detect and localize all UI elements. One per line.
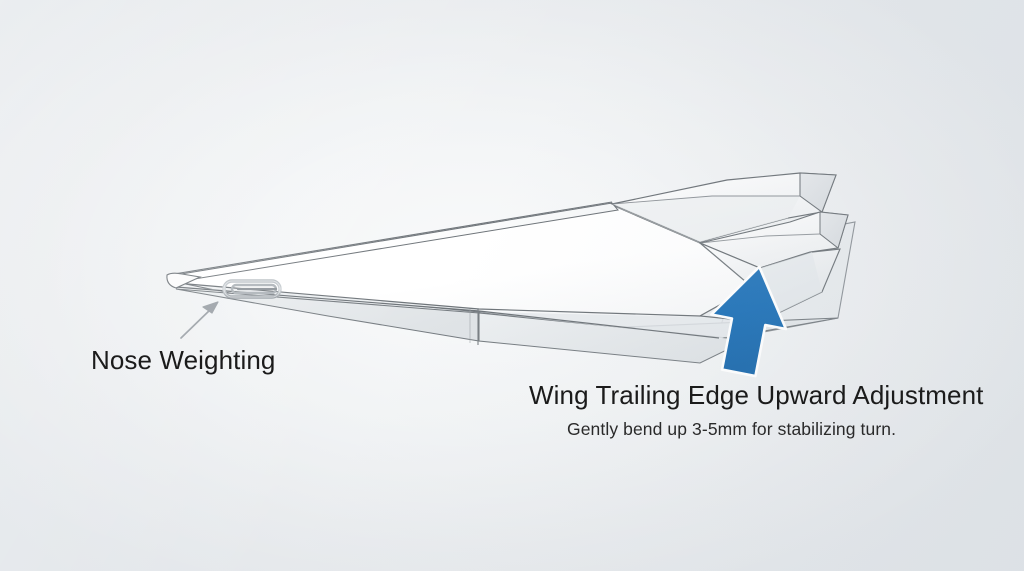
nose-weighting-label: Nose Weighting [91, 345, 275, 375]
wing-adjustment-subtitle: Gently bend up 3-5mm for stabilizing tur… [567, 418, 896, 440]
wing-adjustment-title: Wing Trailing Edge Upward Adjustment [529, 380, 984, 410]
paper-airplane-illustration [0, 0, 1024, 571]
illustration-canvas: Nose Weighting Wing Trailing Edge Upward… [0, 0, 1024, 571]
